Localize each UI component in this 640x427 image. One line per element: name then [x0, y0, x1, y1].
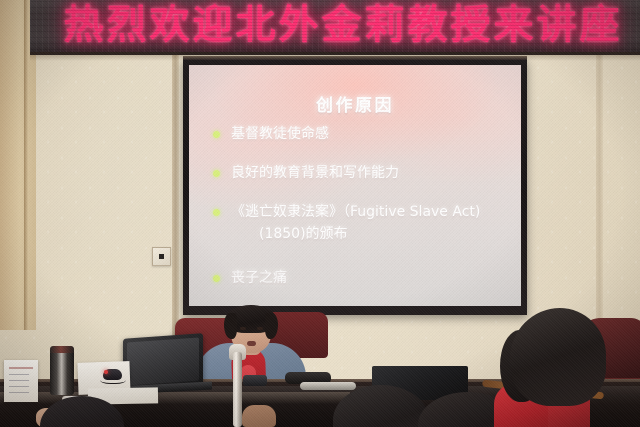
speaker-hand-reflection	[242, 405, 276, 427]
thermos	[50, 350, 74, 395]
speaker-mouth	[247, 341, 256, 346]
led-banner: 热烈欢迎北外金莉教授来讲座	[30, 0, 640, 55]
name-card-line	[9, 374, 29, 375]
mouse-led-icon	[104, 370, 108, 374]
wall-switch[interactable]	[152, 247, 171, 266]
wall-column-edge	[24, 0, 28, 330]
attendee-red-coat-head	[510, 308, 606, 406]
speaker-eye-left	[240, 327, 246, 330]
thermos-lid	[50, 346, 74, 353]
screen-vignette	[189, 65, 521, 306]
microphone-stand	[233, 352, 242, 427]
name-card-line	[9, 392, 29, 393]
name-card-line	[9, 367, 33, 369]
lecture-photo: 热烈欢迎北外金莉教授来讲座 创作原因 基督教徒使命感 良好的教育背景和写作能力	[0, 0, 640, 427]
desk-device-3	[300, 382, 356, 390]
speaker-hair-left	[224, 313, 237, 339]
name-card	[4, 360, 38, 402]
projection-screen-frame: 创作原因 基督教徒使命感 良好的教育背景和写作能力 《逃亡奴隶法案》（Fugit…	[183, 59, 527, 315]
name-card-line	[9, 380, 29, 381]
speaker-hair-right	[265, 313, 278, 339]
projection-screen: 创作原因 基督教徒使命感 良好的教育背景和写作能力 《逃亡奴隶法案》（Fugit…	[189, 65, 521, 306]
led-scanlines	[30, 0, 640, 52]
desk-device	[243, 375, 267, 386]
name-card-line	[9, 386, 29, 387]
speaker-eye-right	[257, 327, 263, 330]
